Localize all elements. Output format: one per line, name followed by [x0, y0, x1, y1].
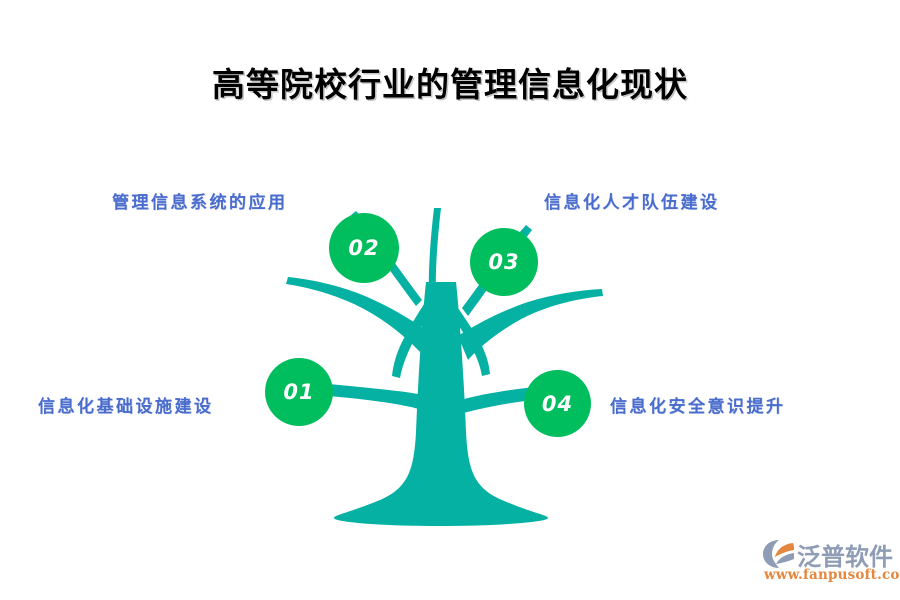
node-label-04: 信息化安全意识提升: [610, 392, 786, 417]
node-circle-04[interactable]: 04: [524, 370, 591, 437]
node-number-02: 02: [348, 236, 379, 260]
node-circle-02[interactable]: 02: [329, 213, 399, 283]
node-circle-03[interactable]: 03: [470, 228, 538, 296]
node-circle-01[interactable]: 01: [265, 358, 333, 426]
node-label-02: 管理信息系统的应用: [112, 188, 288, 213]
node-label-01: 信息化基础设施建设: [38, 392, 214, 417]
fanpu-leaf-logo-icon: [762, 539, 796, 569]
page-title: 高等院校行业的管理信息化现状: [0, 58, 900, 106]
node-label-03: 信息化人才队伍建设: [544, 188, 720, 213]
slide-canvas: 高等院校行业的管理信息化现状 01 信息化基础设: [0, 0, 900, 600]
brand-logo[interactable]: 泛普软件 www.fanpusoft.com: [762, 537, 888, 587]
logo-url: www.fanpusoft.com: [764, 567, 900, 583]
node-number-04: 04: [542, 392, 573, 416]
node-number-01: 01: [283, 380, 314, 404]
node-number-03: 03: [488, 250, 519, 274]
tree-icon: [230, 170, 670, 530]
